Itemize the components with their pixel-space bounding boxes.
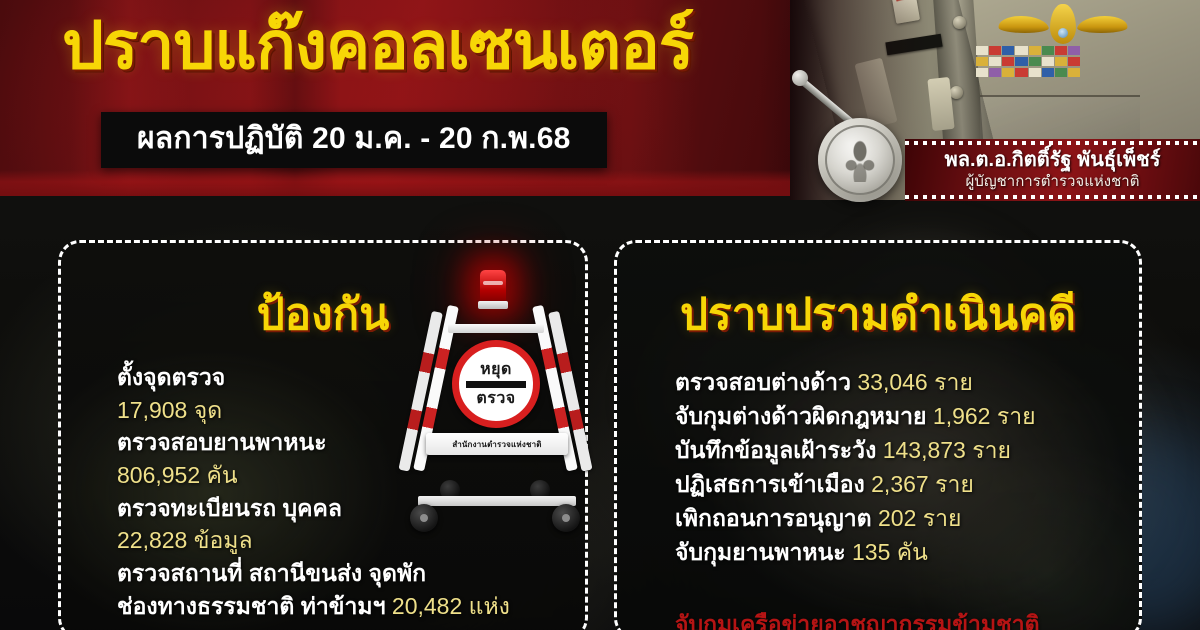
banner-dotted-bottom xyxy=(905,195,1200,199)
stat-line: ตรวจสอบต่างด้าว 33,046 ราย xyxy=(675,365,1135,399)
stat-line: จับกุมต่างด้าวผิดกฎหมาย 1,962 ราย xyxy=(675,399,1135,433)
infographic-canvas: ปราบแก๊งคอลเซนเตอร์ ผลการปฏิบัติ 20 ม.ค.… xyxy=(0,0,1200,630)
agency-plate: สำนักงานตำรวจแห่งชาติ xyxy=(426,433,568,455)
officer-name-banner: พล.ต.อ.กิตติ์รัฐ พันธุ์เพ็ชร์ ผู้บัญชากา… xyxy=(905,139,1200,201)
stop-check-sign-icon: หยุด ตรวจ xyxy=(452,340,540,428)
red-beacon-light-icon xyxy=(480,270,506,304)
stat-line: บันทึกข้อมูลเฝ้าระวัง 143,873 ราย xyxy=(675,433,1135,467)
suppression-card-title: ปราบปรามดำเนินคดี xyxy=(617,291,1139,339)
agency-plate-text: สำนักงานตำรวจแห่งชาติ xyxy=(452,438,541,451)
officer-role: ผู้บัญชาการตำรวจแห่งชาติ xyxy=(966,173,1140,191)
officer-name: พล.ต.อ.กิตติ์รัฐ พันธุ์เพ็ชร์ xyxy=(945,149,1161,172)
stat-line: ช่องทางธรรมชาติ ท่าข้ามฯ 20,482 แห่ง xyxy=(117,590,447,623)
police-medallion-icon xyxy=(818,118,902,202)
page-title: ปราบแก๊งคอลเซนเตอร์ xyxy=(62,8,782,84)
stat-line: จับกุมยานพาหนะ 135 คัน xyxy=(675,535,1135,569)
stat-line: ตรวจสถานที่ สถานีขนส่ง จุดพัก xyxy=(117,557,447,590)
period-subtitle-box: ผลการปฏิบัติ 20 ม.ค. - 20 ก.พ.68 xyxy=(101,112,607,168)
sign-word-bottom: ตรวจ xyxy=(476,391,515,407)
checkpoint-barrier-graphic: หยุด ตรวจ สำนักงานตำรวจแห่งชาติ xyxy=(396,268,596,538)
caster-wheel-icon xyxy=(552,504,580,532)
suppression-card: ปราบปรามดำเนินคดี ตรวจสอบต่างด้าว 33,046… xyxy=(614,240,1142,630)
stat-line: เพิกถอนการอนุญาต 202 ราย xyxy=(675,501,1135,535)
banner-dotted-top xyxy=(905,141,1200,145)
sign-word-top: หยุด xyxy=(480,362,512,378)
caster-wheel-icon xyxy=(410,504,438,532)
stat-line: ปฏิเสธการเข้าเมือง 2,367 ราย xyxy=(675,467,1135,501)
period-subtitle: ผลการปฏิบัติ 20 ม.ค. - 20 ก.พ.68 xyxy=(137,121,571,157)
suppression-red-note: จับกุมเครือข่ายอาชญากรรมข้ามชาติ xyxy=(675,607,1142,630)
suppression-stat-list: ตรวจสอบต่างด้าว 33,046 ราย จับกุมต่างด้า… xyxy=(675,365,1135,569)
